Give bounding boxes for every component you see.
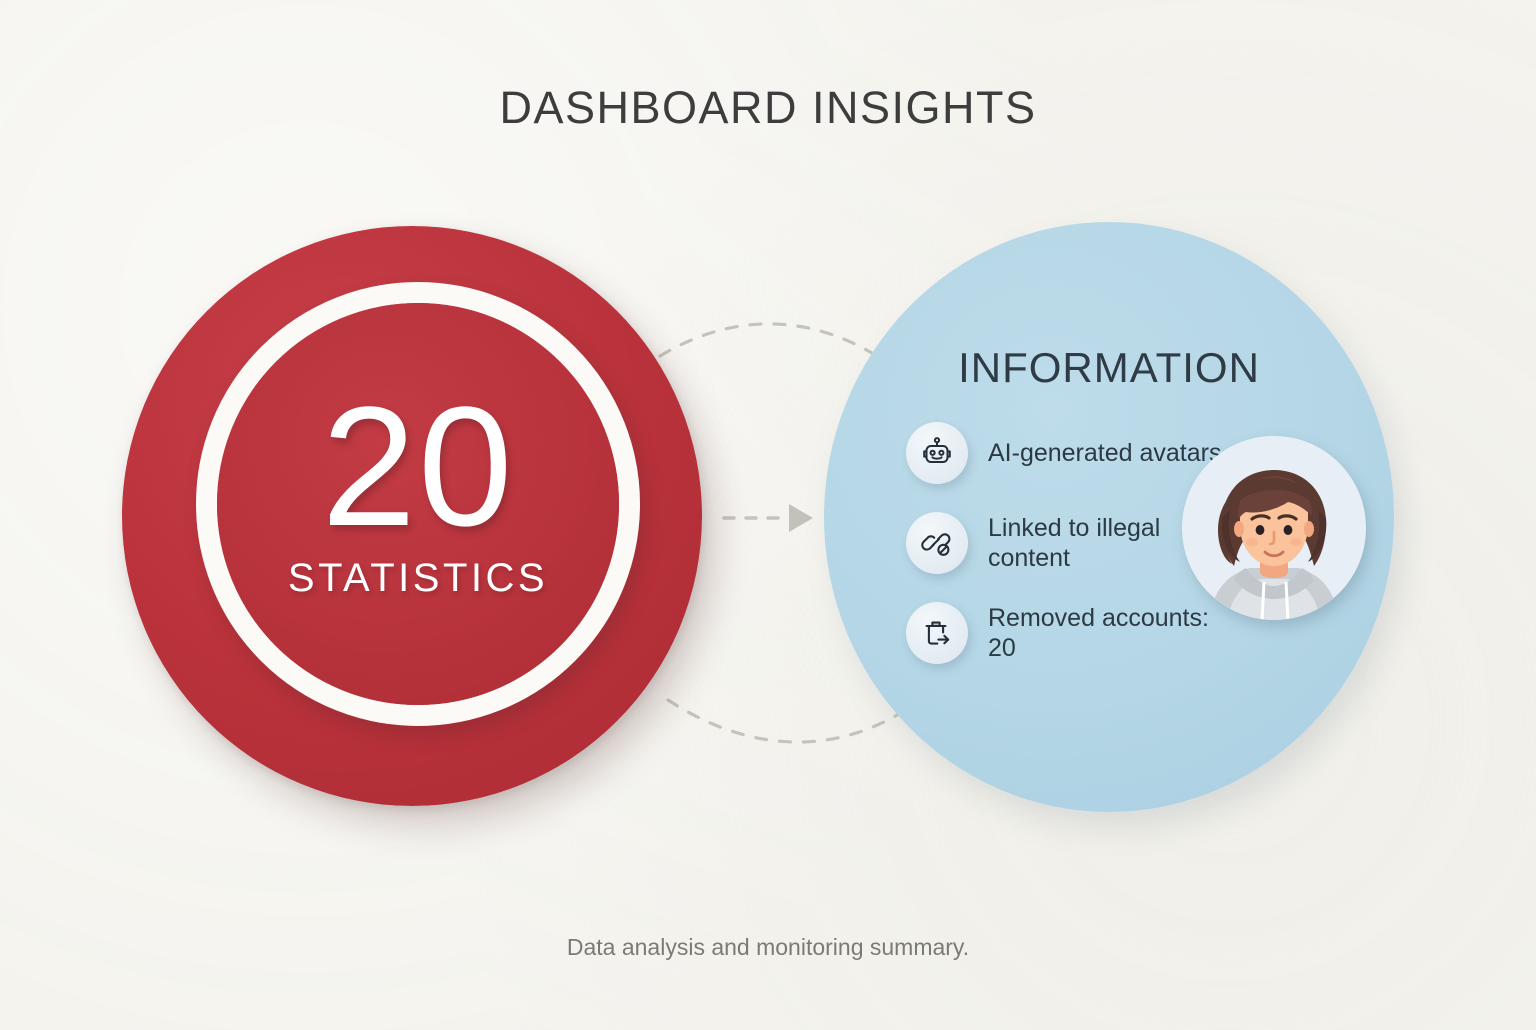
robot-icon: [906, 422, 968, 484]
connector-arrowhead-icon: [789, 504, 813, 532]
trash-remove-icon: [906, 602, 968, 664]
broken-link-icon: [906, 512, 968, 574]
statistics-value: 20: [321, 389, 514, 545]
infographic-stage: DASHBOARD INSIGHTS 20 STATISTICS INFORMA…: [0, 0, 1536, 1030]
statistics-inner-disc: 20 STATISTICS: [217, 303, 619, 705]
statistics-badge: 20 STATISTICS: [122, 226, 702, 806]
footer-caption: Data analysis and monitoring summary.: [0, 934, 1536, 961]
list-item[interactable]: AI-generated avatars: [906, 422, 1236, 484]
list-item[interactable]: Removed accounts: 20: [906, 602, 1236, 664]
statistics-label: STATISTICS: [288, 556, 548, 601]
connector-arc-bottom: [668, 700, 920, 742]
list-item-label: Removed accounts: 20: [988, 603, 1236, 664]
avatar[interactable]: [1182, 436, 1366, 620]
information-title: INFORMATION: [824, 344, 1394, 392]
information-panel: INFORMATION AI-generated avatars: [824, 222, 1394, 812]
list-item-label: AI-generated avatars: [988, 438, 1221, 469]
page-title: DASHBOARD INSIGHTS: [0, 82, 1536, 134]
